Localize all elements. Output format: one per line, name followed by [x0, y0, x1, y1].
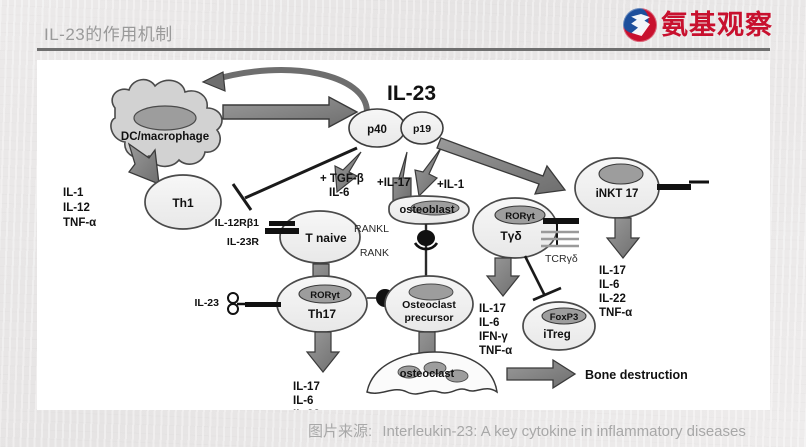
cytokine-item: IL-17 [479, 303, 506, 315]
cell-label-osteoclast: osteoclast [400, 368, 455, 380]
cytokine-item: IL-12 [63, 202, 90, 214]
subunit-label-p19: p19 [413, 123, 431, 135]
cytokine-item: TNF-α [599, 307, 632, 319]
cytokine-item: IL-17 [599, 265, 626, 277]
cell-label-precursor-1: Osteoclast [402, 299, 456, 311]
il23-subunit-p19: p19 [401, 112, 443, 144]
cytokine-item: IL-6 [479, 317, 499, 329]
cell-osteoblast: osteoblast [389, 196, 469, 224]
cytokine-item: IL-6 [293, 395, 313, 407]
il23-pathway-diagram: DC/macrophage IL-23 p40 p19 [37, 60, 770, 410]
title-divider [37, 48, 770, 51]
receptor-label-rank: RANK [360, 247, 389, 259]
outcome-label-bone-destruction: Bone destruction [585, 368, 688, 382]
il23-subunit-p40: p40 [349, 109, 405, 147]
diagram-main-label: IL-23 [387, 82, 436, 105]
receptor-label-tcrgd: TCRγδ [545, 253, 578, 265]
cofactor-label-tgfb: + TGF-β [320, 173, 364, 185]
cell-label-itreg: iTreg [543, 329, 570, 341]
brand-logo: 氨基观察 [623, 8, 773, 42]
cytokine-item: TNF-α [479, 345, 512, 357]
ligand-label-rankl: RANKL [354, 223, 389, 235]
tf-label-itreg: FoxP3 [550, 312, 579, 323]
cell-osteoclast-precursor: Osteoclast precursor [385, 276, 473, 332]
logo-droplet-icon [623, 8, 657, 42]
ligand-label-il23: IL-23 [194, 297, 219, 309]
receptor-label-il23r: IL-23R [227, 236, 260, 248]
cofactor-label-il1: +IL-1 [437, 179, 465, 191]
subunit-label-p40: p40 [367, 124, 387, 136]
receptor-label-il12rb1: IL-12Rβ1 [215, 217, 259, 229]
cofactor-label-il6: IL-6 [329, 187, 349, 199]
cell-label-precursor-2: precursor [404, 312, 453, 324]
tf-label-th17: RORγt [310, 290, 340, 301]
cell-label-tgd: Tγδ [500, 229, 521, 243]
cell-label-inkt17: iNKT 17 [596, 188, 639, 200]
caption-prefix: 图片来源: [308, 423, 372, 440]
cell-label-tnaive: T naive [305, 231, 347, 245]
cell-label-osteoblast: osteoblast [399, 204, 454, 216]
cytokine-item: IL-22 [293, 409, 320, 410]
cytokine-item: IL-22 [599, 293, 626, 305]
cytokine-item: IL-17 [293, 381, 320, 393]
cytokine-item: IFN-γ [479, 331, 508, 343]
cytokine-item: TNF-α [63, 217, 96, 229]
logo-text: 氨基观察 [661, 12, 773, 39]
caption-source-title: Interleukin-23: A key cytokine in inflam… [382, 423, 746, 440]
image-source-caption: 图片来源: Interleukin-23: A key cytokine in … [308, 420, 746, 441]
cell-label-th17: Th17 [308, 307, 336, 321]
tf-label-tgd: RORγt [505, 211, 535, 222]
cytokine-item: IL-6 [599, 279, 619, 291]
cell-th1: Th1 [145, 175, 221, 229]
content-panel: DC/macrophage IL-23 p40 p19 [37, 60, 770, 410]
cell-label-dc: DC/macrophage [121, 131, 209, 143]
cytokine-item: IL-1 [63, 187, 84, 199]
page-title: IL-23的作用机制 [44, 20, 173, 45]
cell-itreg: FoxP3 iTreg [523, 302, 595, 350]
cell-label-th1: Th1 [172, 196, 194, 210]
cofactor-label-il17: +IL-17 [377, 177, 411, 189]
